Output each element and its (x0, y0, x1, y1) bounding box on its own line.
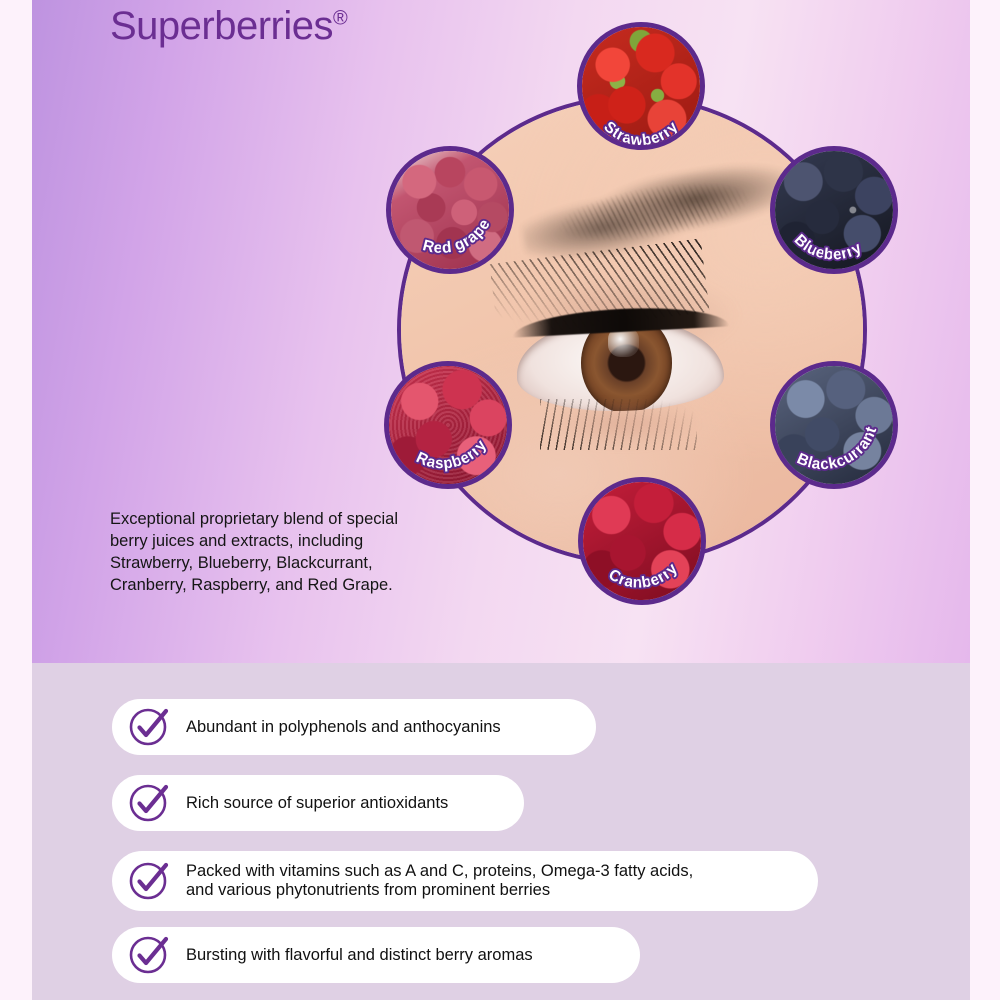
page-title-text: Superberries (110, 4, 333, 48)
check-circle-icon (126, 705, 170, 749)
right-margin-strip (970, 0, 1000, 1000)
benefit-text: Abundant in polyphenols and anthocyanins (186, 718, 501, 737)
registered-trademark-icon: ® (333, 8, 347, 30)
benefit-item: Bursting with flavorful and distinct ber… (112, 927, 640, 983)
berry-bubble-strawberry[interactable]: Strawberry (577, 22, 705, 150)
check-circle-icon (126, 859, 170, 903)
benefit-text: Packed with vitamins such as A and C, pr… (186, 862, 693, 880)
benefit-item: Packed with vitamins such as A and C, pr… (112, 851, 818, 911)
blackcurrant-photo (775, 366, 893, 484)
berry-bubble-blueberry[interactable]: Blueberry (770, 146, 898, 274)
benefit-item: Rich source of superior antioxidants (112, 775, 524, 831)
berry-bubble-redgrape[interactable]: Red grape (386, 146, 514, 274)
check-circle-icon (126, 933, 170, 977)
blueberry-photo (775, 151, 893, 269)
benefit-text: and various phytonutrients from prominen… (186, 881, 550, 899)
benefits-panel: Abundant in polyphenols and anthocyanins… (32, 663, 970, 1000)
benefit-text-block: Packed with vitamins such as A and C, pr… (186, 862, 693, 900)
cranberry-photo (583, 482, 701, 600)
hero-panel: Superberries® Exceptional proprietary bl… (32, 0, 970, 663)
left-margin-strip (0, 0, 32, 1000)
strawberry-photo (582, 27, 700, 145)
check-circle-icon (126, 781, 170, 825)
description-line: Cranberry, Raspberry, and Red Grape. (110, 574, 458, 596)
page-title: Superberries® (110, 4, 347, 49)
raspberry-photo (389, 366, 507, 484)
benefit-text: Rich source of superior antioxidants (186, 794, 448, 813)
red-grape-photo (391, 151, 509, 269)
benefit-text: Bursting with flavorful and distinct ber… (186, 946, 533, 965)
page-root: Superberries® Exceptional proprietary bl… (0, 0, 1000, 1000)
berry-bubble-blackcurrant[interactable]: Blackcurrant (770, 361, 898, 489)
berry-bubble-cranberry[interactable]: Cranberry (578, 477, 706, 605)
berry-bubble-raspberry[interactable]: Raspberry (384, 361, 512, 489)
benefit-item: Abundant in polyphenols and anthocyanins (112, 699, 596, 755)
